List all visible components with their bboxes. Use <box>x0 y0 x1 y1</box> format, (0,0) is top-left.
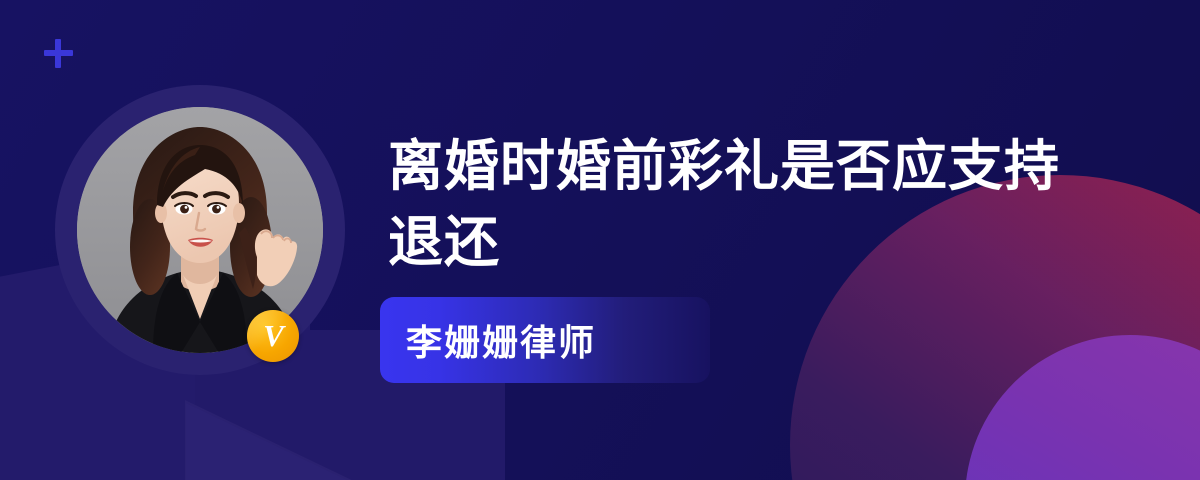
page-title: 离婚时婚前彩礼是否应支持退还 <box>388 128 1068 280</box>
decorative-triangle <box>185 400 435 480</box>
verified-badge-icon: V <box>247 310 299 362</box>
decorative-orb-purple <box>965 335 1200 480</box>
lawyer-name-button[interactable]: 李姗姗律师 <box>380 297 710 383</box>
verified-badge-letter: V <box>263 320 283 351</box>
banner-content: 离婚时婚前彩礼是否应支持退还 <box>388 128 1088 280</box>
plus-icon <box>44 39 73 68</box>
lawyer-promo-banner: V 离婚时婚前彩礼是否应支持退还 李姗姗律师 <box>0 0 1200 480</box>
plus-icon-vertical-bar <box>55 39 61 68</box>
decorative-triangle-two <box>186 403 416 480</box>
avatar: V <box>55 85 345 375</box>
